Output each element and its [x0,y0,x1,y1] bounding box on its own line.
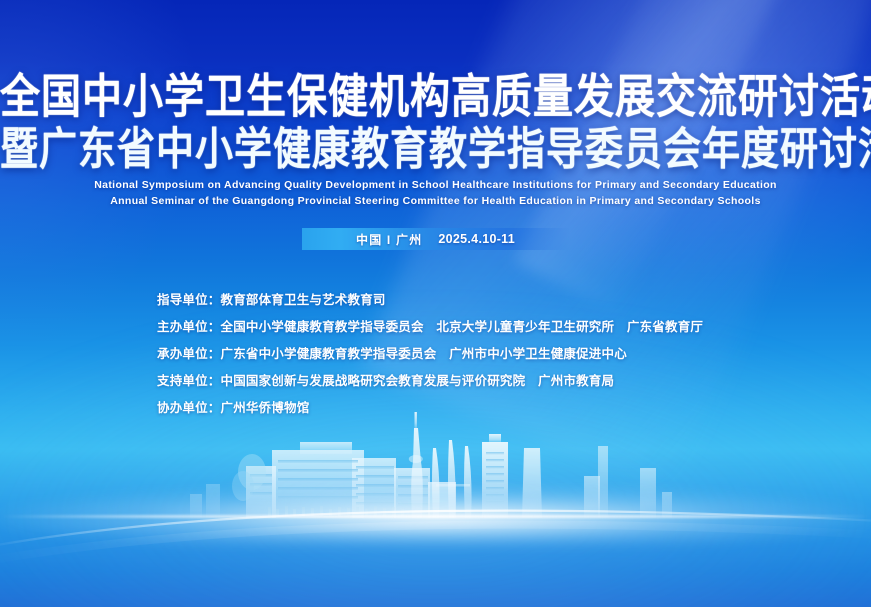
organizer-list: 指导单位：教育部体育卫生与艺术教育司 主办单位：全国中小学健康教育教学指导委员会… [157,287,703,422]
title-line-secondary: 暨广东省中小学健康教育教学指导委员会年度研讨活动 [0,128,871,172]
event-info-badge: 中国 I 广州 2025.4.10-11 [302,228,570,250]
poster-content: 全国中小学卫生保健机构高质量发展交流研讨活动 暨广东省中小学健康教育教学指导委员… [0,0,871,607]
organizer-row: 协办单位：广州华侨博物馆 [157,395,703,422]
subtitle-english-secondary: Annual Seminar of the Guangdong Provinci… [0,193,871,209]
subtitle-block: National Symposium on Advancing Quality … [0,177,871,209]
title-block: 全国中小学卫生保健机构高质量发展交流研讨活动 暨广东省中小学健康教育教学指导委员… [0,74,871,166]
badge-location: 中国 I 广州 [356,231,422,248]
conference-poster: 全国中小学卫生保健机构高质量发展交流研讨活动 暨广东省中小学健康教育教学指导委员… [0,0,871,607]
organizer-row: 主办单位：全国中小学健康教育教学指导委员会 北京大学儿童青少年卫生研究所 广东省… [157,314,703,341]
title-line-primary: 全国中小学卫生保健机构高质量发展交流研讨活动 [0,74,871,120]
organizer-row: 支持单位：中国国家创新与发展战略研究会教育发展与评价研究院 广州市教育局 [157,368,703,395]
organizer-row: 承办单位：广东省中小学健康教育教学指导委员会 广州市中小学卫生健康促进中心 [157,341,703,368]
badge-date: 2025.4.10-11 [438,232,515,246]
subtitle-english-primary: National Symposium on Advancing Quality … [0,177,871,193]
event-info-badge-wrap: 中国 I 广州 2025.4.10-11 [0,228,871,250]
organizer-row: 指导单位：教育部体育卫生与艺术教育司 [157,287,703,314]
